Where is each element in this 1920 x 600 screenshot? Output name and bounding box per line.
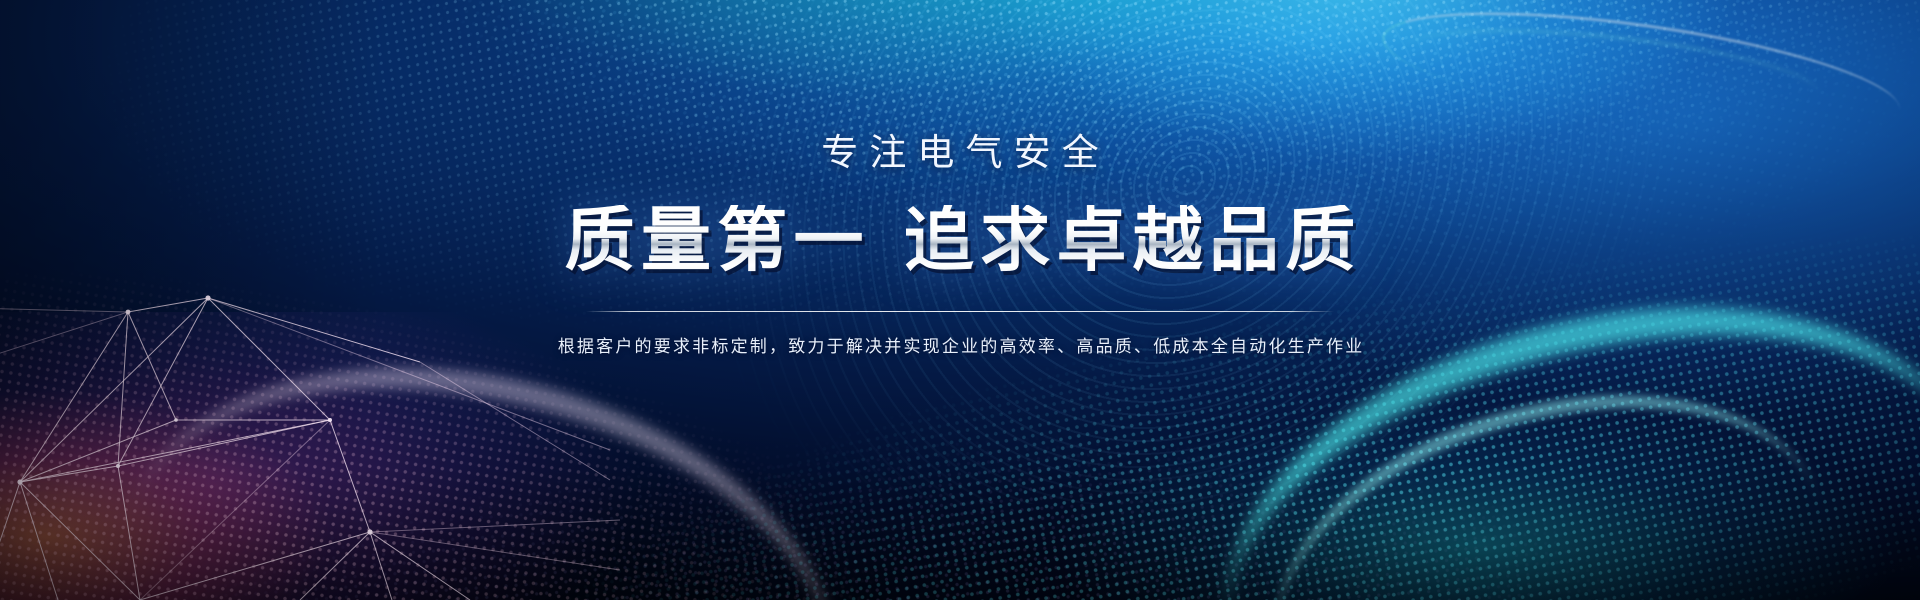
hero-headline: 质量第一追求卓越品质 bbox=[0, 205, 1920, 275]
hero-banner: 专注电气安全 质量第一追求卓越品质 根据客户的要求非标定制，致力于解决并实现企业… bbox=[0, 0, 1920, 600]
hero-eyebrow: 专注电气安全 bbox=[0, 134, 1920, 171]
hero-headline-part-1: 质量第一 bbox=[565, 201, 870, 279]
hero-content: 专注电气安全 质量第一追求卓越品质 根据客户的要求非标定制，致力于解决并实现企业… bbox=[0, 134, 1920, 355]
hero-headline-part-2: 追求卓越品质 bbox=[904, 201, 1362, 279]
hero-divider bbox=[586, 311, 1334, 312]
hero-tagline: 根据客户的要求非标定制，致力于解决并实现企业的高效率、高品质、低成本全自动化生产… bbox=[0, 338, 1920, 355]
